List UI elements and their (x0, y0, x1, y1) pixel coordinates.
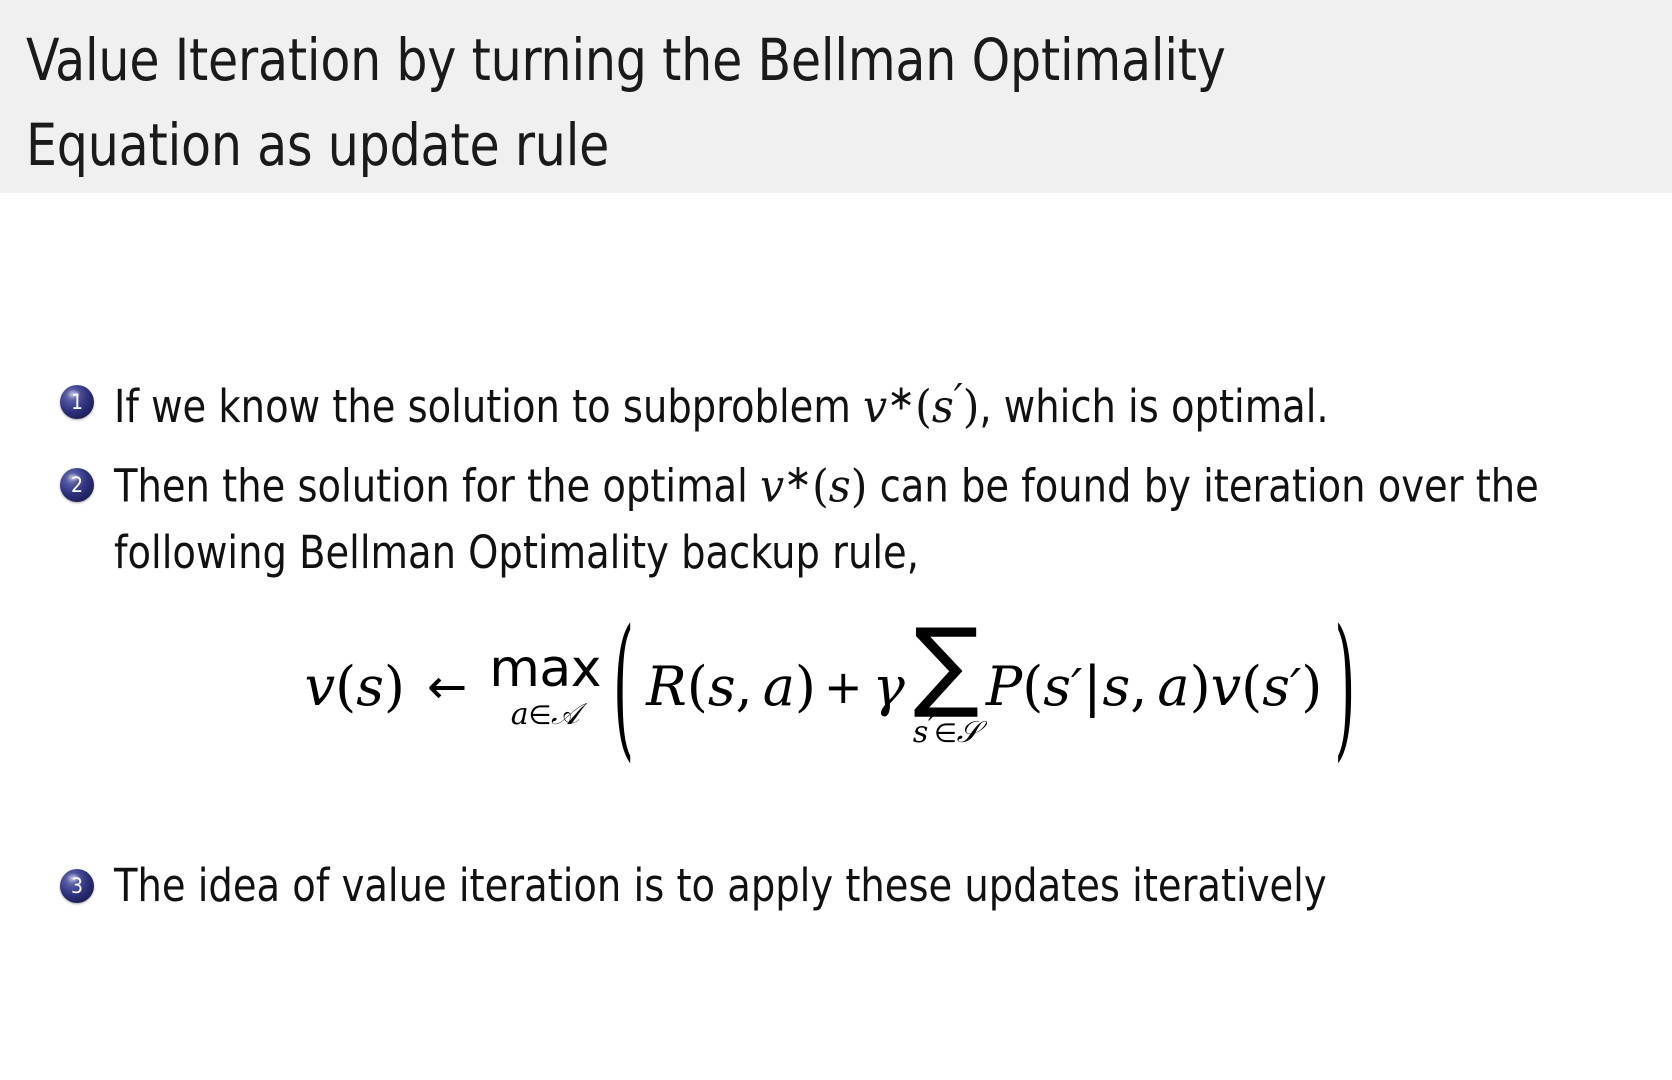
marker-number: 3 (60, 869, 94, 903)
eq-lhs-close: ) (384, 655, 405, 718)
enumerate-ball-marker-2: 2 (60, 468, 94, 502)
slide-body: 1 If we know the solution to subproblem … (0, 193, 1672, 1080)
item1-math-close-paren: ) (963, 380, 980, 433)
item3-text: The idea of value iteration is to apply … (114, 859, 1327, 912)
eq-prob-sprime: s (1043, 655, 1071, 718)
element-of-icon: ∈ (528, 700, 551, 731)
item1-math-star: ∗ (887, 377, 915, 418)
eq-prob-close: ) (1190, 655, 1211, 718)
enumerate-ball-marker-3: 3 (60, 869, 94, 903)
slide-title-band: Value Iteration by turning the Bellman O… (0, 0, 1672, 193)
eq-reward-close: ) (795, 655, 816, 718)
eq-prob-comma: , (1130, 655, 1147, 718)
item1-math-arg: s (932, 380, 954, 433)
eq-val-fn: v (1211, 655, 1242, 718)
list-item: 3 The idea of value iteration is to appl… (60, 853, 1660, 919)
max-label: max (489, 643, 601, 695)
item2-math-open-paren: ( (812, 460, 829, 513)
list-item-text: Then the solution for the optimal v∗(s) … (114, 452, 1568, 586)
element-of-icon: ∈ (934, 718, 957, 749)
enumerated-list-continued: 3 The idea of value iteration is to appl… (60, 853, 1660, 931)
marker-number: 1 (60, 385, 94, 419)
eq-prob-fn: P (986, 655, 1022, 718)
eq-val-open: ( (1241, 655, 1262, 718)
big-open-paren: ( (613, 597, 634, 777)
sigma-subscript: s′∈𝒮 (913, 713, 980, 748)
plus-icon: + (816, 660, 871, 714)
left-arrow-icon: ← (423, 659, 471, 715)
item2-math-close-paren: ) (851, 460, 868, 513)
item1-math-prime: ′ (954, 375, 963, 423)
eq-prob-open: ( (1022, 655, 1043, 718)
eq-gamma: γ (871, 655, 907, 718)
eq-prob-prime: ′ (1071, 658, 1082, 716)
eq-prob-s: s (1102, 655, 1130, 718)
display-equation: v(s) ← max a∈𝒜 ( R(s,a) + γ ∑ s′∈𝒮 P(s′|… (0, 625, 1672, 748)
marker-number: 2 (60, 468, 94, 502)
item2-text-before: Then the solution for the optimal (114, 460, 760, 513)
page-title: Value Iteration by turning the Bellman O… (26, 18, 1545, 189)
summation-operator: ∑ s′∈𝒮 (913, 625, 980, 748)
list-item: 2 Then the solution for the optimal v∗(s… (60, 452, 1660, 586)
eq-lhs-v: v (305, 655, 336, 718)
item2-math-arg: s (829, 460, 851, 513)
conditional-bar-icon: | (1082, 655, 1102, 718)
eq-reward-a: a (763, 655, 795, 718)
sigma-sub-var: s (913, 715, 928, 750)
enumerated-list: 1 If we know the solution to subproblem … (60, 369, 1660, 598)
eq-lhs-open: ( (335, 655, 356, 718)
list-item-text: The idea of value iteration is to apply … (114, 853, 1327, 919)
eq-val-prime: ′ (1290, 658, 1301, 716)
eq-lhs-arg: s (356, 655, 384, 718)
eq-reward-fn: R (646, 655, 687, 718)
eq-val-sprime: s (1262, 655, 1290, 718)
eq-reward-open: ( (687, 655, 708, 718)
max-sub-var: a (511, 697, 529, 732)
item1-math-v: v (863, 380, 887, 433)
list-item: 1 If we know the solution to subproblem … (60, 369, 1660, 440)
item1-math-open-paren: ( (915, 380, 932, 433)
item2-math-v: v (760, 460, 784, 513)
enumerate-ball-marker-1: 1 (60, 385, 94, 419)
eq-reward-comma: , (736, 655, 753, 718)
eq-val-close: ) (1301, 655, 1322, 718)
item1-text-after: , which is optimal. (979, 380, 1328, 433)
max-subscript: a∈𝒜 (511, 700, 580, 730)
sigma-sub-set: 𝒮 (957, 715, 980, 750)
bellman-optimality-backup-equation: v(s) ← max a∈𝒜 ( R(s,a) + γ ∑ s′∈𝒮 P(s′|… (305, 625, 1368, 748)
eq-reward-s: s (708, 655, 736, 718)
max-sub-set: 𝒜 (551, 697, 579, 732)
item2-math-star: ∗ (784, 457, 812, 498)
eq-prob-a: a (1157, 655, 1189, 718)
item1-text-before: If we know the solution to subproblem (114, 380, 863, 433)
sigma-icon: ∑ (913, 625, 979, 705)
list-item-text: If we know the solution to subproblem v∗… (114, 369, 1329, 440)
big-close-paren: ) (1334, 597, 1355, 777)
max-operator: max a∈𝒜 (489, 643, 601, 730)
